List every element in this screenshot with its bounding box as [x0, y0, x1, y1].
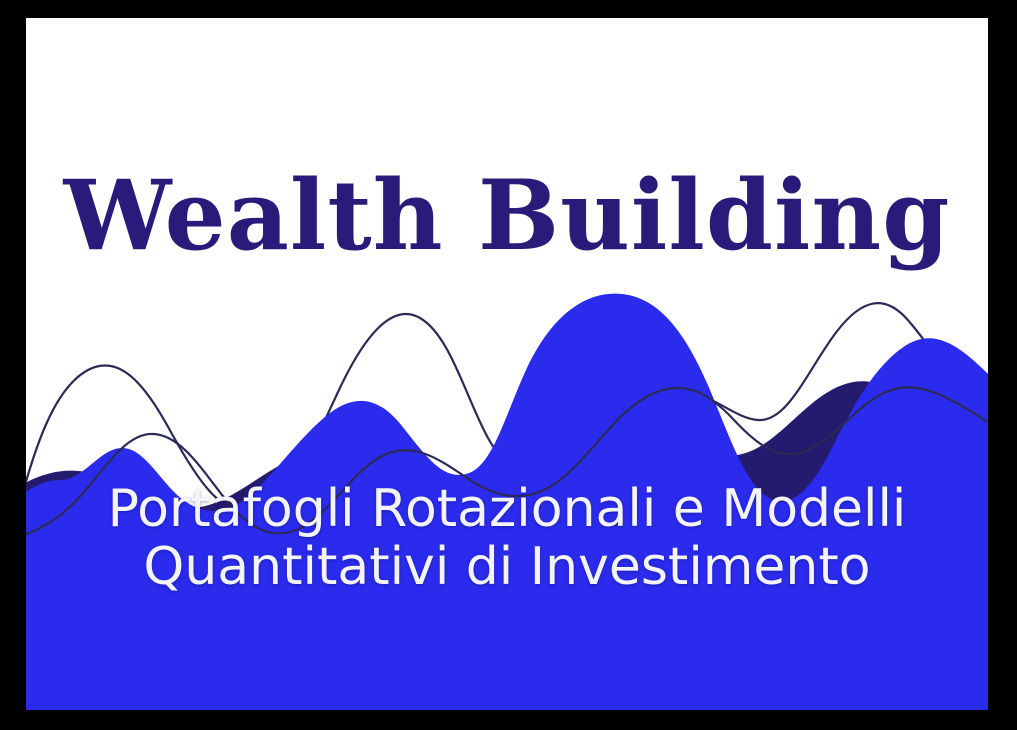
- layered-wave-graphic: [26, 18, 988, 710]
- page-title: Wealth Building: [26, 168, 988, 264]
- poster-canvas: Wealth Building Portafogli Rotazionali e…: [26, 18, 988, 710]
- subtitle-line-1: Portafogli Rotazionali e Modelli: [26, 480, 988, 538]
- subtitle-line-2: Quantitativi di Investimento: [26, 538, 988, 596]
- subtitle-block: Portafogli Rotazionali e Modelli Quantit…: [26, 480, 988, 596]
- title-block: Wealth Building: [26, 168, 988, 264]
- poster-black-frame: Wealth Building Portafogli Rotazionali e…: [0, 0, 1017, 730]
